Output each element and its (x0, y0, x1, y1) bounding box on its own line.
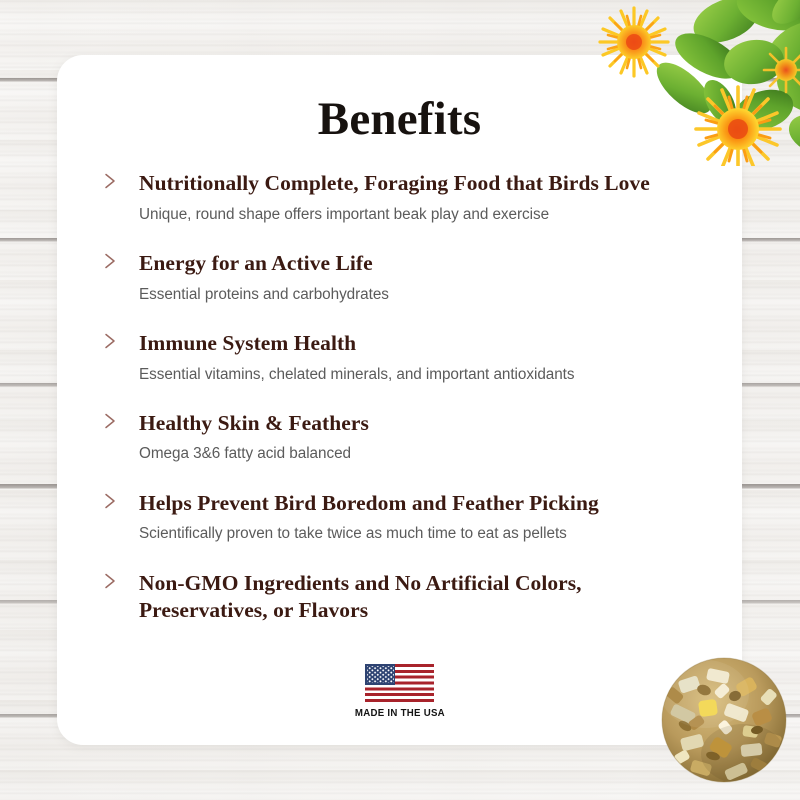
benefit-description: Scientifically proven to take twice as m… (139, 524, 708, 545)
list-item: Helps Prevent Bird Boredom and Feather P… (97, 490, 708, 545)
benefit-description: Unique, round shape offers important bea… (139, 205, 708, 226)
benefit-title: Nutritionally Complete, Foraging Food th… (139, 170, 708, 197)
chevron-right-icon (103, 411, 119, 431)
benefit-title: Non-GMO Ingredients and No Artificial Co… (139, 570, 659, 625)
chevron-right-icon (103, 171, 119, 191)
benefits-card: Benefits Nutritionally Complete, Foragin… (57, 55, 742, 745)
benefit-title: Helps Prevent Bird Boredom and Feather P… (139, 490, 708, 517)
page-title: Benefits (91, 95, 708, 144)
chevron-right-icon (103, 571, 119, 591)
benefits-list: Nutritionally Complete, Foraging Food th… (91, 170, 708, 624)
list-item: Non-GMO Ingredients and No Artificial Co… (97, 570, 708, 625)
list-item: Energy for an Active Life Essential prot… (97, 250, 708, 305)
chevron-right-icon (103, 251, 119, 271)
benefit-title: Healthy Skin & Feathers (139, 410, 708, 437)
benefits-infographic: Benefits Nutritionally Complete, Foragin… (0, 0, 800, 800)
list-item: Nutritionally Complete, Foraging Food th… (97, 170, 708, 225)
made-in-usa-badge: MADE IN THE USA (57, 664, 742, 719)
made-in-usa-label: MADE IN THE USA (354, 707, 444, 719)
benefit-description: Essential vitamins, chelated minerals, a… (139, 365, 708, 386)
benefit-description: Essential proteins and carbohydrates (139, 285, 708, 306)
chevron-right-icon (103, 491, 119, 511)
benefit-title: Energy for an Active Life (139, 250, 708, 277)
usa-flag-icon (365, 664, 434, 702)
chevron-right-icon (103, 331, 119, 351)
list-item: Healthy Skin & Feathers Omega 3&6 fatty … (97, 410, 708, 465)
benefit-description: Omega 3&6 fatty acid balanced (139, 444, 708, 465)
benefit-title: Immune System Health (139, 330, 708, 357)
list-item: Immune System Health Essential vitamins,… (97, 330, 708, 385)
